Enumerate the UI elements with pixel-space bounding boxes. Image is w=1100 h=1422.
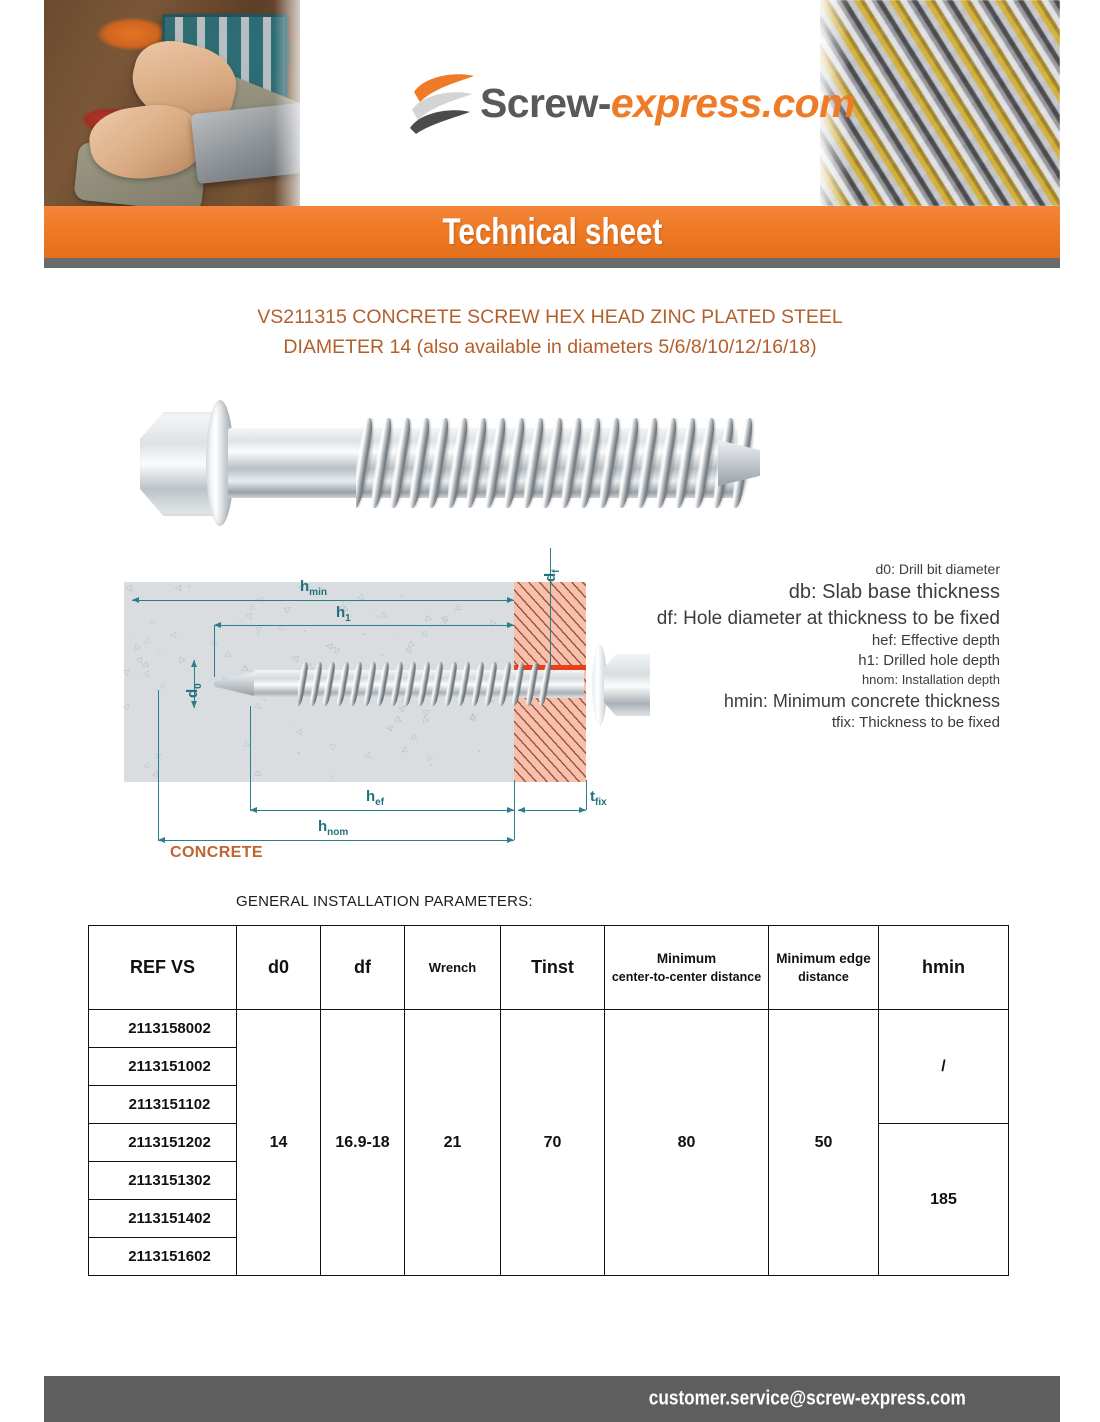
table-body: 21131580021416.9-1821708050/211315100221…: [89, 1010, 1009, 1276]
table-cell-ref: 2113151402: [89, 1200, 237, 1238]
table-header-cell: Minimumcenter-to-center distance: [605, 926, 769, 1010]
table-header-cell: d0: [237, 926, 321, 1010]
table-header-cell: REF VS: [89, 926, 237, 1010]
aggregate-speckle: ◁: [357, 593, 367, 603]
table-header-cell: Minimum edgedistance: [769, 926, 879, 1010]
dim-label-hmin: hmin: [300, 578, 327, 598]
product-title-line-2: DIAMETER 14 (also available in diameters…: [150, 332, 950, 362]
thread-ridge: [443, 662, 459, 706]
thread-ridge: [402, 662, 418, 706]
dim-extension-tfix: [586, 780, 587, 810]
legend-item: hmin: Minimum concrete thickness: [580, 689, 1000, 713]
legend-item: hnom: Installation depth: [580, 671, 1000, 688]
aggregate-speckle: ▽: [455, 602, 461, 610]
table-header-line-2: center-to-center distance: [605, 968, 768, 986]
aggregate-speckle: ◦: [359, 632, 367, 635]
dim-label-hef: hef: [366, 788, 384, 808]
swoosh-icon: [410, 72, 476, 134]
aggregate-speckle: △: [177, 654, 186, 664]
dim-label-h1: h1: [336, 604, 351, 624]
aggregate-speckle: ▷: [131, 643, 141, 653]
brand-primary: Screw-: [480, 80, 611, 126]
dim-arrow-left: [214, 622, 221, 628]
aggregate-speckle: ▽: [157, 682, 165, 689]
aggregate-speckle: ◁: [331, 645, 341, 655]
footer-email[interactable]: customer.service@screw-express.com: [623, 1388, 992, 1411]
aggregate-speckle: △: [402, 745, 410, 754]
aggregate-speckle: ◦: [330, 772, 338, 779]
banner-title-wrap: Technical sheet: [44, 211, 1060, 253]
aggregate-speckle: ▷: [283, 604, 293, 614]
thread-ridge: [456, 662, 472, 706]
legend-item: hef: Effective depth: [580, 631, 1000, 651]
aggregate-speckle: ▷: [225, 650, 234, 660]
aggregate-speckle: ▽: [255, 769, 265, 778]
aggregate-speckle: ▽: [411, 732, 417, 740]
table-row: 21131580021416.9-1821708050/: [89, 1010, 1009, 1048]
aggregate-speckle: ◁: [325, 642, 332, 651]
table-header-line-1: Minimum edge: [769, 949, 878, 969]
dim-arrow-down: [191, 701, 197, 708]
dim-arrow-left: [250, 807, 257, 813]
aggregate-speckle: ◦: [378, 653, 386, 656]
thread-ridge: [308, 662, 324, 706]
thread-ridge: [470, 662, 486, 706]
banner-title: Technical sheet: [442, 211, 662, 253]
thread-ridge: [524, 662, 540, 706]
header-logo-panel: Screw-express.com: [300, 0, 820, 206]
thread-ridge: [348, 662, 364, 706]
table-header-cell: Wrench: [405, 926, 501, 1010]
table-cell-ref: 2113151302: [89, 1162, 237, 1200]
screw-threads: [356, 418, 756, 508]
aggregate-speckle: ▽: [468, 714, 478, 724]
thread-ridge: [362, 662, 378, 706]
aggregate-speckle: ▽: [439, 615, 449, 625]
aggregate-speckle: △: [392, 715, 402, 724]
aggregate-speckle: ◁: [420, 715, 429, 723]
banner-gray-strip: [44, 258, 1060, 268]
table-header-cell: df: [321, 926, 405, 1010]
installation-parameters-table: REF VSd0dfWrenchTinstMinimumcenter-to-ce…: [88, 925, 1009, 1276]
dim-extension-hnom: [158, 690, 159, 840]
aggregate-speckle: ◁: [421, 630, 431, 640]
aggregate-speckle: ·: [393, 635, 399, 643]
aggregate-speckle: ·: [127, 629, 134, 637]
concrete-label: CONCRETE: [170, 844, 263, 862]
dim-extension-hef: [250, 706, 251, 810]
thread-ridge: [321, 662, 337, 706]
aggregate-speckle: ▷: [142, 670, 152, 680]
dim-extension-hnom-right: [514, 782, 515, 840]
dim-label-d0: d0: [184, 683, 204, 698]
legend-item: db: Slab base thickness: [580, 579, 1000, 606]
brand-logo[interactable]: Screw-express.com: [410, 72, 855, 134]
aggregate-speckle: ▽: [245, 612, 254, 622]
table-cell-min-edge-distance: 50: [769, 1010, 879, 1276]
technical-sheet-banner: Technical sheet: [44, 206, 1060, 258]
dim-arrow-left: [158, 837, 165, 843]
aggregate-speckle: ◁: [363, 751, 371, 761]
brand-secondary: express.com: [611, 80, 855, 126]
aggregate-speckle: ◁: [123, 669, 132, 676]
aggregate-speckle: △: [123, 701, 132, 711]
dim-line-h1: [214, 625, 514, 626]
diagram-screw-threads: [298, 662, 554, 706]
table-cell-ref: 2113151202: [89, 1124, 237, 1162]
page-footer: customer.service@screw-express.com: [44, 1376, 1060, 1422]
aggregate-speckle: ◦: [302, 627, 309, 635]
table-cell-ref: 2113151602: [89, 1238, 237, 1276]
aggregate-speckle: △: [174, 585, 182, 591]
diagram-screw-tip: [214, 672, 254, 696]
table-cell-min-center-distance: 80: [605, 1010, 769, 1276]
dim-line-df: [550, 548, 551, 668]
dim-line-hnom: [158, 840, 514, 841]
dim-extension-h1: [214, 625, 215, 677]
product-photo: [78, 388, 698, 536]
dim-label-tfix: tfix: [590, 788, 607, 808]
page-title: VS211315 CONCRETE SCREW HEX HEAD ZINC PL…: [150, 302, 950, 362]
aggregate-speckle: △: [148, 618, 158, 626]
thread-ridge: [429, 662, 445, 706]
table-cell-df: 16.9-18: [321, 1010, 405, 1276]
dim-arrow-left: [132, 597, 139, 603]
brand-wordmark: Screw-express.com: [480, 80, 855, 127]
table-header-cell: Tinst: [501, 926, 605, 1010]
thread-ridge: [389, 662, 405, 706]
aggregate-speckle: ·: [231, 615, 234, 623]
aggregate-speckle: ▷: [169, 630, 176, 639]
dim-label-df: df: [542, 569, 562, 582]
dim-line-hmin: [132, 600, 514, 601]
table-cell-d0: 14: [237, 1010, 321, 1276]
table-header-cell: hmin: [879, 926, 1009, 1010]
aggregate-speckle: ◁: [142, 762, 150, 771]
aggregate-speckle: △: [296, 726, 305, 736]
thread-ridge: [483, 662, 499, 706]
thread-ridge: [375, 662, 391, 706]
legend-list: d0: Drill bit diameterdb: Slab base thic…: [580, 560, 1000, 733]
legend-item: tfix: Thickness to be fixed: [580, 713, 1000, 733]
aggregate-speckle: ▽: [144, 635, 151, 643]
aggregate-speckle: △: [426, 755, 435, 762]
aggregate-speckle: ◦: [156, 650, 162, 658]
dim-arrow-up: [191, 660, 197, 667]
table-cell-ref: 2113158002: [89, 1010, 237, 1048]
table-cell-wrench: 21: [405, 1010, 501, 1276]
thread-ridge: [497, 662, 513, 706]
dim-line-hef: [250, 810, 514, 811]
aggregate-speckle: △: [327, 741, 337, 751]
legend-item: h1: Drilled hole depth: [580, 651, 1000, 671]
product-title-line-1: VS211315 CONCRETE SCREW HEX HEAD ZINC PL…: [150, 302, 950, 332]
dim-arrow-right: [579, 807, 586, 813]
table-caption: GENERAL INSTALLATION PARAMETERS:: [236, 893, 533, 910]
dim-arrow-right: [507, 597, 514, 603]
dim-arrow-right: [507, 837, 514, 843]
aggregate-speckle: ◦: [397, 592, 405, 600]
table-header-line-2: distance: [769, 968, 878, 986]
table-header-line-1: Minimum: [605, 949, 768, 969]
table-cell-hmin: 185: [879, 1124, 1009, 1276]
aggregate-speckle: ◦: [475, 750, 483, 753]
aggregate-speckle: ▽: [385, 724, 394, 731]
aggregate-speckle: ◦: [185, 583, 193, 590]
aggregate-speckle: ▽: [210, 639, 219, 647]
footer-email-text: customer.service@screw-express.com: [649, 1388, 966, 1411]
aggregate-speckle: ▽: [256, 596, 265, 606]
thread-ridge: [537, 662, 553, 706]
dim-arrow-left: [518, 807, 525, 813]
aggregate-speckle: ◦: [426, 763, 434, 767]
table-cell-ref: 2113151102: [89, 1086, 237, 1124]
technical-sheet-page: Screw-express.com Technical sheet VS2113…: [0, 0, 1100, 1422]
legend-item: df: Hole diameter at thickness to be fix…: [580, 606, 1000, 631]
legend-item: d0: Drill bit diameter: [580, 560, 1000, 579]
thread-ridge: [416, 662, 432, 706]
table-cell-ref: 2113151002: [89, 1048, 237, 1086]
page-header: Screw-express.com: [44, 0, 1060, 206]
diagram-screw: [214, 660, 594, 708]
table-cell-hmin: /: [879, 1010, 1009, 1124]
dim-arrow-right: [507, 622, 514, 628]
thread-ridge: [298, 662, 310, 706]
dim-line-tfix: [518, 810, 586, 811]
thread-ridge: [510, 662, 526, 706]
dim-label-hnom: hnom: [318, 818, 348, 838]
dim-arrow-right: [507, 807, 514, 813]
aggregate-speckle: ·: [285, 719, 293, 722]
thread-ridge: [335, 662, 351, 706]
table-cell-tinst: 70: [501, 1010, 605, 1276]
table-header-row: REF VSd0dfWrenchTinstMinimumcenter-to-ce…: [89, 926, 1009, 1010]
aggregate-speckle: ▽: [424, 615, 433, 623]
aggregate-speckle: ◦: [253, 632, 261, 635]
